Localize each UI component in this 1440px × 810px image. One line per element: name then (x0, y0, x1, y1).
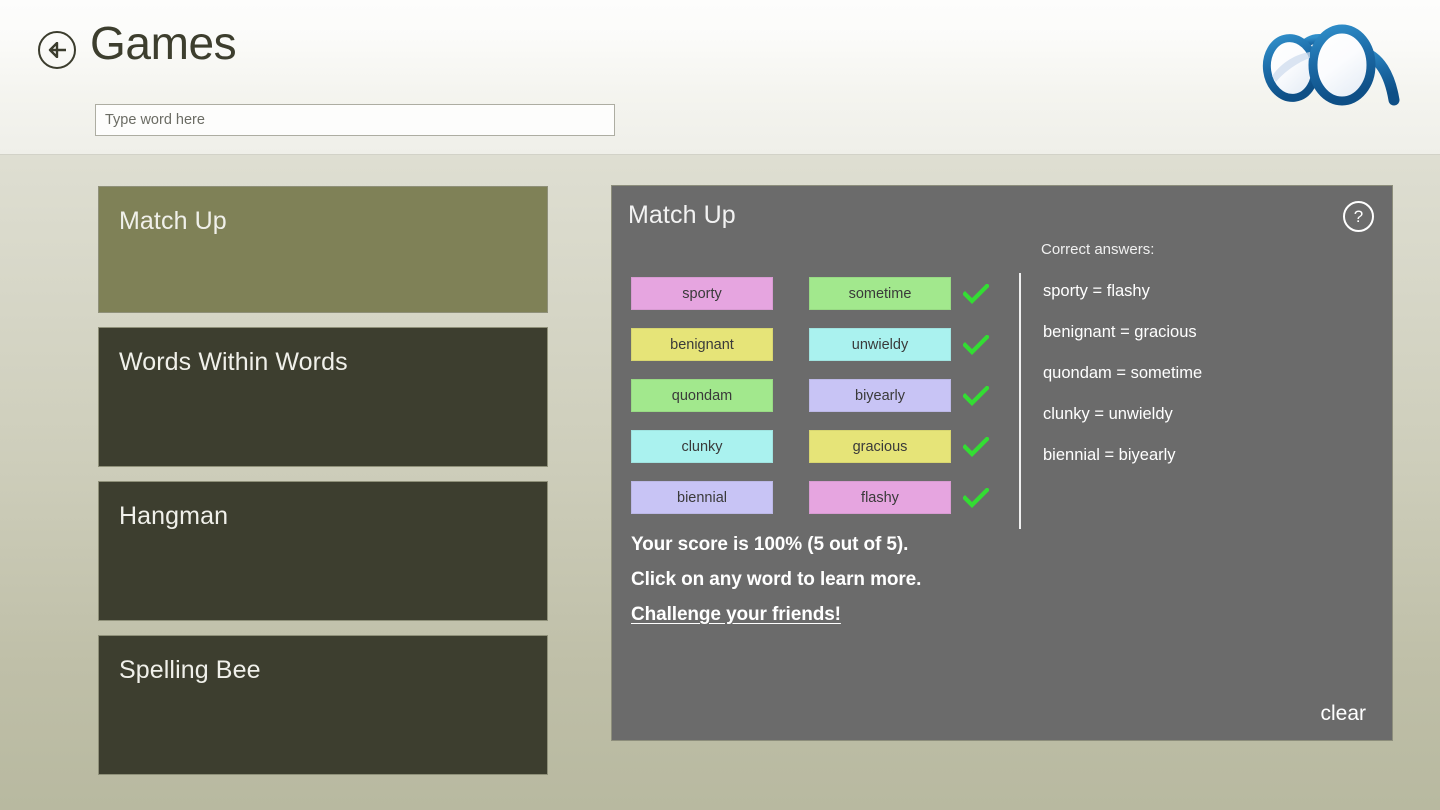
challenge-friends-link[interactable]: Challenge your friends! (631, 604, 841, 626)
word-tile-right[interactable]: sometime (809, 277, 951, 310)
page-title: Games (90, 17, 236, 70)
answers-list: sporty = flashy benignant = gracious quo… (1019, 273, 1379, 529)
sidebar-item-hangman[interactable]: Hangman (98, 481, 548, 621)
match-row: benignant unwieldy (631, 328, 993, 361)
sidebar-item-label: Words Within Words (119, 348, 348, 376)
correct-answers-panel: Correct answers: sporty = flashy benigna… (1019, 241, 1379, 529)
sidebar-item-spelling-bee[interactable]: Spelling Bee (98, 635, 548, 775)
panel-title: Match Up (628, 201, 736, 230)
word-tile-right[interactable]: biyearly (809, 379, 951, 412)
answers-heading: Correct answers: (1041, 241, 1379, 258)
match-row: clunky gracious (631, 430, 993, 463)
sidebar-item-match-up[interactable]: Match Up (98, 186, 548, 313)
score-text: Your score is 100% (5 out of 5). (631, 534, 1061, 556)
back-arrow-icon (46, 42, 68, 58)
answer-line[interactable]: biennial = biyearly (1043, 446, 1379, 465)
sidebar-item-label: Match Up (119, 207, 227, 235)
check-icon (963, 335, 993, 355)
match-row: biennial flashy (631, 481, 993, 514)
check-icon (963, 386, 993, 406)
match-grid: sporty sometime benignant unwieldy quond… (631, 277, 993, 514)
word-tile-left[interactable]: clunky (631, 430, 773, 463)
match-up-panel: Match Up ? sporty sometime benignant unw… (611, 185, 1393, 741)
score-hint-text: Click on any word to learn more. (631, 569, 1061, 591)
word-tile-right[interactable]: gracious (809, 430, 951, 463)
question-mark-icon[interactable]: ? (1343, 201, 1374, 232)
check-icon (963, 284, 993, 304)
check-icon (963, 488, 993, 508)
sidebar-item-label: Hangman (119, 502, 228, 530)
sidebar-item-label: Spelling Bee (119, 656, 261, 684)
match-row: sporty sometime (631, 277, 993, 310)
search-input[interactable] (95, 104, 615, 136)
word-tile-left[interactable]: quondam (631, 379, 773, 412)
score-block: Your score is 100% (5 out of 5). Click o… (631, 534, 1061, 626)
app-header: Games (0, 0, 1440, 155)
eyeglasses-logo-icon (1256, 18, 1402, 110)
word-tile-right[interactable]: unwieldy (809, 328, 951, 361)
match-row: quondam biyearly (631, 379, 993, 412)
help-label: ? (1354, 208, 1363, 225)
answer-line[interactable]: benignant = gracious (1043, 323, 1379, 342)
sidebar-item-words-within-words[interactable]: Words Within Words (98, 327, 548, 467)
word-tile-left[interactable]: benignant (631, 328, 773, 361)
word-tile-left[interactable]: biennial (631, 481, 773, 514)
game-list: Match Up Words Within Words Hangman Spel… (98, 186, 548, 775)
word-tile-right[interactable]: flashy (809, 481, 951, 514)
answer-line[interactable]: sporty = flashy (1043, 282, 1379, 301)
word-tile-left[interactable]: sporty (631, 277, 773, 310)
clear-button[interactable]: clear (1320, 702, 1366, 726)
answer-line[interactable]: quondam = sometime (1043, 364, 1379, 383)
back-button[interactable] (38, 31, 76, 69)
check-icon (963, 437, 993, 457)
answer-line[interactable]: clunky = unwieldy (1043, 405, 1379, 424)
